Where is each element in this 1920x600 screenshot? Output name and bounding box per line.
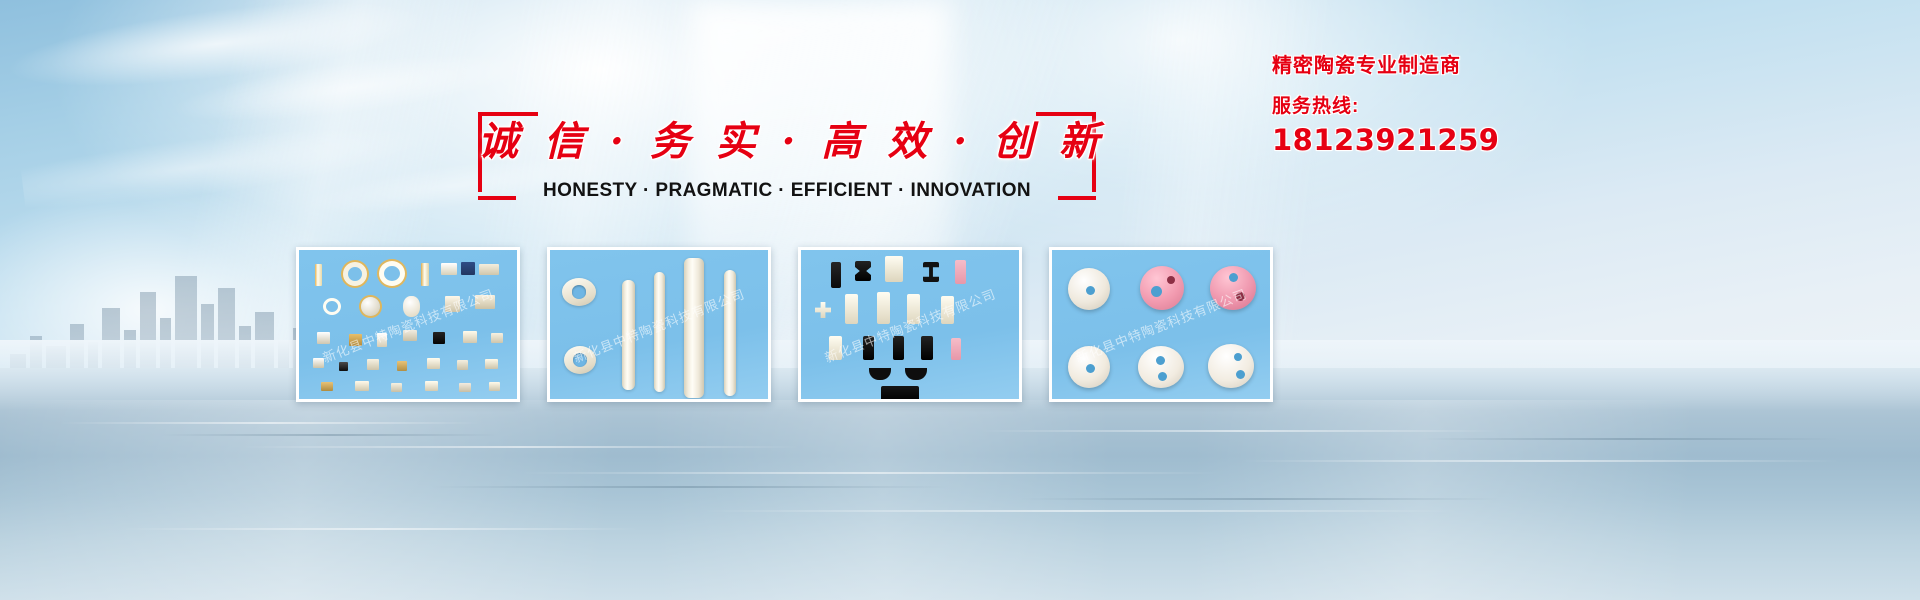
slogan-chinese: 诚 信 · 务 实 · 高 效 · 创 新: [478, 114, 1096, 170]
product-panel-blocks[interactable]: 新化县中特陶瓷科技有限公司: [798, 247, 1022, 402]
hotline-number[interactable]: 18123921259: [1272, 122, 1492, 158]
hotline-label: 服务热线:: [1272, 94, 1492, 120]
product-panel-row: 新化县中特陶瓷科技有限公司 新化县中特陶瓷科技有限公司: [296, 247, 1276, 402]
slogan-block: 诚 信 · 务 实 · 高 效 · 创 新 HONESTY · PRAGMATI…: [478, 112, 1096, 200]
product-panel-tubes[interactable]: 新化县中特陶瓷科技有限公司: [547, 247, 771, 402]
slogan-english: HONESTY · PRAGMATIC · EFFICIENT · INNOVA…: [478, 180, 1096, 202]
ground-reflection: [0, 400, 1920, 600]
hero-banner: 诚 信 · 务 实 · 高 效 · 创 新 HONESTY · PRAGMATI…: [0, 0, 1920, 600]
company-tagline: 精密陶瓷专业制造商: [1272, 52, 1492, 80]
product-panel-discs[interactable]: 新化县中特陶瓷科技有限公司: [1049, 247, 1273, 402]
product-panel-chips[interactable]: 新化县中特陶瓷科技有限公司: [296, 247, 520, 402]
contact-block: 精密陶瓷专业制造商 服务热线: 18123921259: [1272, 52, 1492, 158]
